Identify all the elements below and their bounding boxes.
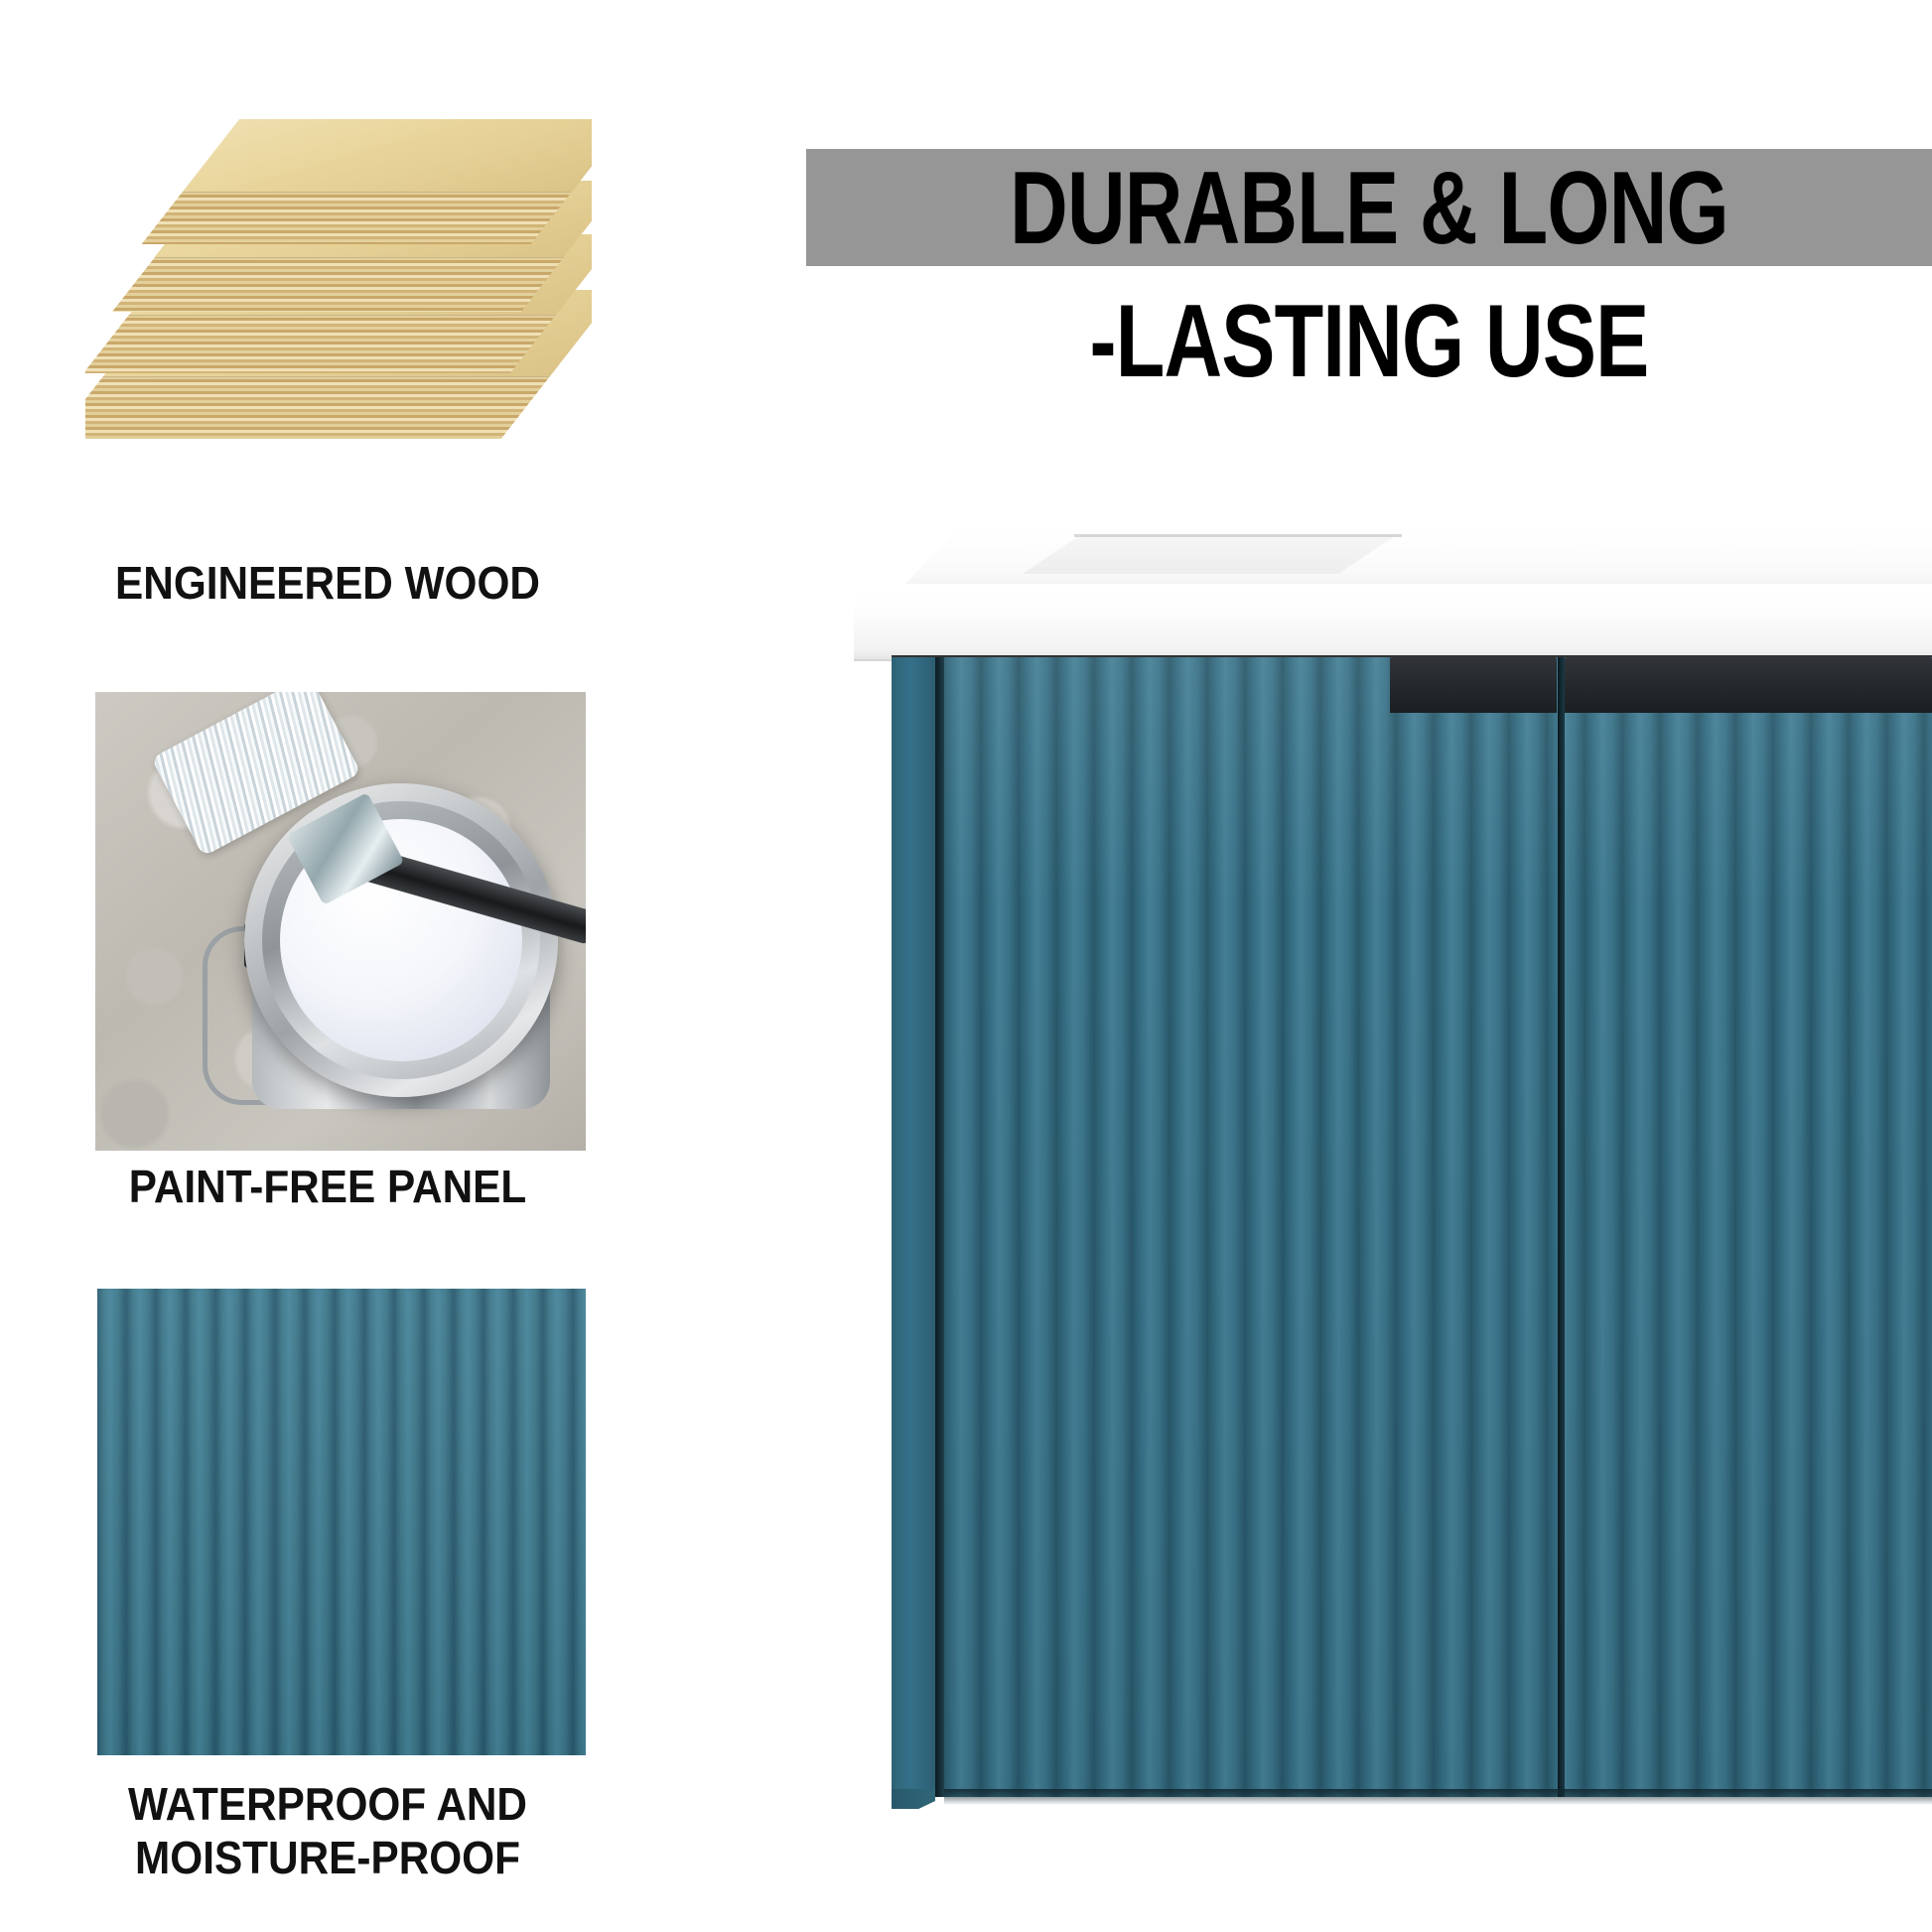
cabinet-light-overlay [944,657,1932,1797]
feature-caption-engineered-wood: ENGINEERED WOOD [26,556,628,610]
paint-can-brush-image [95,692,586,1151]
cabinet-fluted-front [944,657,1932,1797]
feature-caption-waterproof: WATERPROOF AND MOISTURE-PROOF [26,1777,628,1885]
cabinet-door-seam [1558,657,1565,1797]
flute-shading-overlay [97,1289,586,1755]
cabinet-left-side-foot [892,1789,935,1809]
basin-back-edge-line [1074,534,1402,537]
feature-caption-paint-free-panel: PAINT-FREE PANEL [26,1160,628,1213]
infographic-canvas: DURABLE & LONG -LASTING USE ENGINEERED W… [0,0,1932,1932]
cabinet-corner-seam [935,657,944,1797]
plank-layered-edge [85,315,556,373]
plywood-plank-top [183,119,572,244]
headline-line-1: DURABLE & LONG [930,145,1809,272]
bathroom-vanity-product-image [854,506,1932,1817]
plank-top-face [183,119,592,192]
cabinet-handle-left-door[interactable] [1390,657,1557,713]
paint-can-rim-outer [244,783,558,1097]
plank-layered-edge [112,257,564,312]
plank-layered-edge [85,376,550,439]
plank-layered-edge [142,192,572,244]
countertop-front-edge [854,584,1932,661]
cabinet-left-side-panel [892,657,935,1789]
plywood-stack-image [85,95,592,461]
headline-line-2: -LASTING USE [930,278,1809,405]
cabinet-bottom-shadow [944,1789,1932,1805]
fluted-teal-panel-swatch [97,1289,586,1755]
cabinet-handle-right-door[interactable] [1565,657,1932,713]
